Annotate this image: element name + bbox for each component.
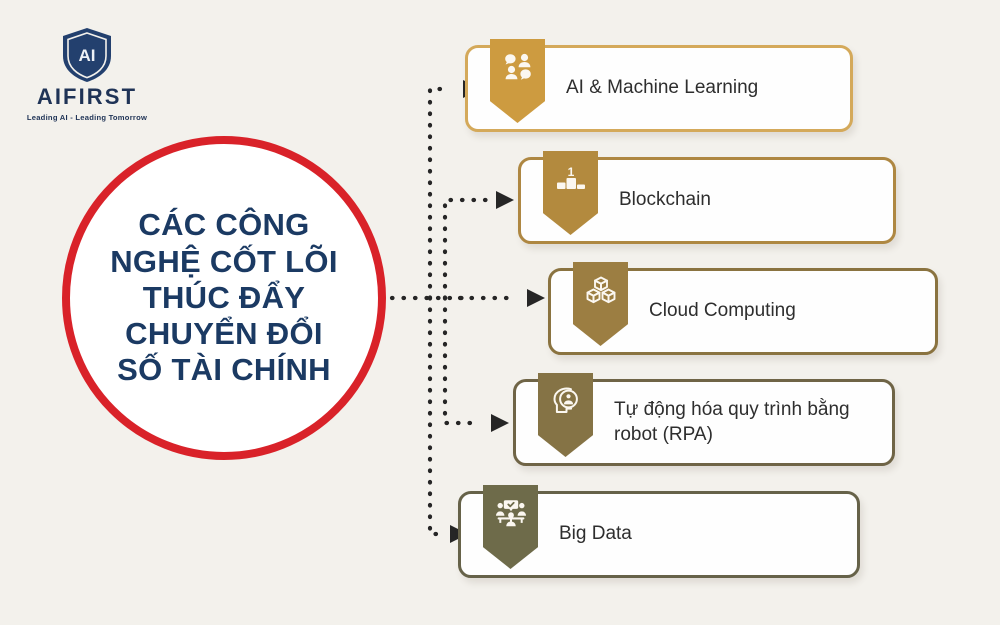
brand-tagline: Leading AI - Leading Tomorrow xyxy=(22,114,152,122)
arrow-head-2 xyxy=(496,191,514,209)
robot-head-icon xyxy=(538,373,593,457)
brand-name: AIFIRST xyxy=(22,86,152,108)
stacked-cubes-icon xyxy=(573,262,628,346)
branch-line-1 xyxy=(430,89,446,298)
tech-card-label: Blockchain xyxy=(619,188,711,213)
tech-card-bigdata[interactable]: Big Data xyxy=(458,491,860,578)
branch-line-2 xyxy=(445,200,486,298)
shield-icon: AI xyxy=(59,26,115,84)
tech-card-label: Cloud Computing xyxy=(649,299,796,324)
ai-people-icon xyxy=(490,39,545,123)
branch-line-4 xyxy=(445,298,481,423)
arrow-head-4 xyxy=(491,414,509,432)
svg-text:1: 1 xyxy=(567,165,574,179)
tech-card-label: Tự động hóa quy trình bằng robot (RPA) xyxy=(614,398,876,447)
brand-logo: AI AIFIRST Leading AI - Leading Tomorrow xyxy=(22,26,152,126)
hub-title: CÁC CÔNG NGHỆ CỐT LÕI THÚC ĐẨY CHUYỂN ĐỔ… xyxy=(88,207,360,388)
tech-card-label: Big Data xyxy=(559,522,632,547)
infographic-canvas: AI AIFIRST Leading AI - Leading Tomorrow… xyxy=(0,0,1000,625)
arrow-heads xyxy=(450,80,545,543)
tech-card-cloud[interactable]: Cloud Computing xyxy=(548,268,938,355)
podium-chart-icon: 1 xyxy=(543,151,598,235)
shield-label: AI xyxy=(79,46,96,65)
central-hub: CÁC CÔNG NGHỆ CỐT LÕI THÚC ĐẨY CHUYỂN ĐỔ… xyxy=(62,136,386,460)
tech-card-ai[interactable]: AI & Machine Learning xyxy=(465,45,853,132)
team-data-icon xyxy=(483,485,538,569)
tech-card-label: AI & Machine Learning xyxy=(566,76,758,101)
branch-line-5 xyxy=(430,298,440,534)
tech-card-blockchain[interactable]: 1 Blockchain xyxy=(518,157,896,244)
tech-card-rpa[interactable]: Tự động hóa quy trình bằng robot (RPA) xyxy=(513,379,895,466)
arrow-head-3 xyxy=(527,289,545,307)
